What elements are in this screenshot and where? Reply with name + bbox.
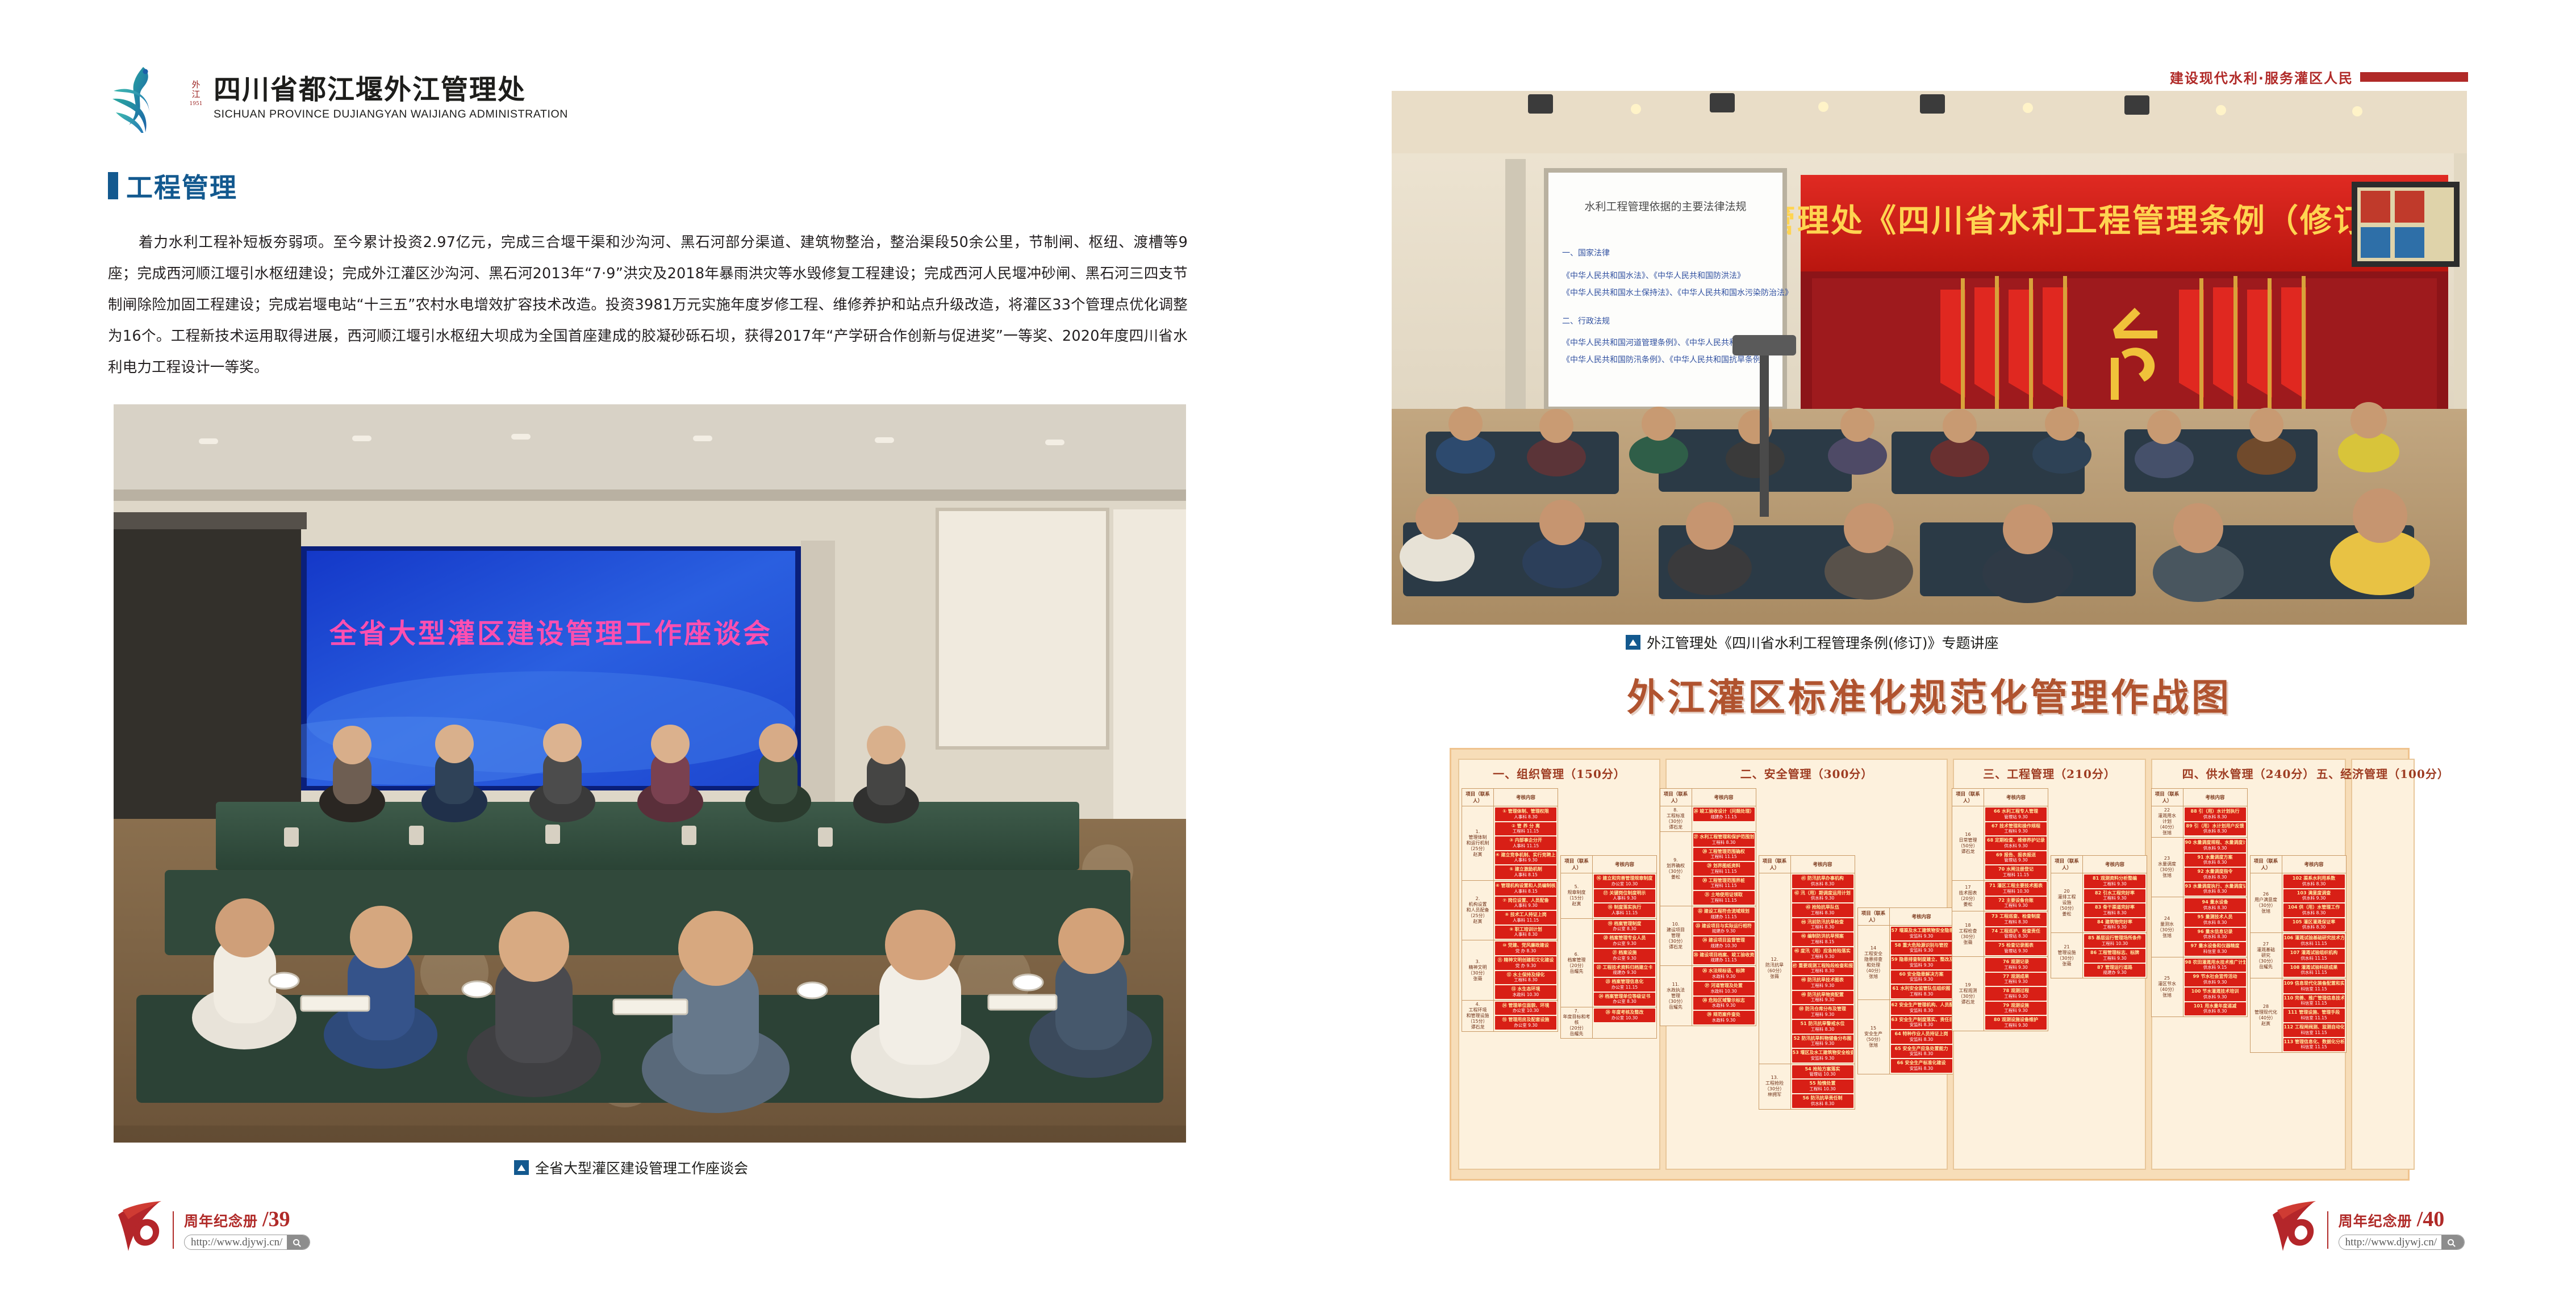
chart-column-body: 项目（联系人）考核内容8.工程标准（30分）谭石龙㉖ 竣工验收设计（问题处理）档… [1670,788,1943,1110]
chart-item[interactable]: ㊷ 汛（用）期调度运用计划供水科 9.30 [1792,889,1853,903]
chart-table-header: 项目（联系人）考核内容 [1660,789,1756,806]
chart-item[interactable]: ⑩ 党建、党风廉政建设党 办 8.30 [1495,942,1556,955]
header-project: 项目（联系人） [1858,908,1890,925]
chart-item[interactable]: ⑫ 水土保持及绿化工程科 8.30 [1495,971,1556,985]
chart-item[interactable]: 92 水量调度指令供水科 8.30 [2185,868,2246,881]
footer-url-pill[interactable]: http://www.djywj.cn/ [184,1235,310,1250]
chart-column-3: 三、工程管理（210分）项目（联系人）考核内容16日常管理（50分）谭石龙66 … [1953,759,2146,1170]
chart-item[interactable]: 81 观测资料分析整编工程科 9.30 [2084,875,2145,888]
chart-item[interactable]: 91 水量调度方案供水科 8.30 [2185,854,2246,867]
chart-group-label: 5.规章制度（15分）赵寅 [1561,873,1593,918]
chart-item[interactable]: 66 安全生产标准化建设安监科 8.30 [1891,1059,1952,1073]
footer-text-block: 周年纪念册 /40 http://www.djywj.cn/ [2339,1207,2465,1252]
chart-item[interactable]: ㊲ 河道管理及处置水政科 10.30 [1693,982,1755,995]
chart-item-title: 103 满意度调查 [2284,890,2344,896]
chart-group-label: 12.防汛抗旱（60分）张薇 [1759,873,1791,1064]
chart-item-title: 92 水量调度指令 [2185,869,2245,875]
chart-item-title: 65 安全生产应急处置能力 [1892,1046,1952,1052]
chart-item-owner: 水政科 9.30 [1694,974,1754,979]
chart-item-title: ㊺ 编制防洪抗旱预案 [1793,934,1853,939]
chart-table: 项目（联系人）考核内容8.工程标准（30分）谭石龙㉖ 竣工验收设计（问题处理）档… [1660,788,1756,1026]
chart-item[interactable]: ㉞ 建设项目监督管理规建办 10.30 [1693,936,1755,950]
chart-item[interactable]: ㊺ 编制防洪抗旱预案工程科 8.15 [1792,932,1853,946]
chart-item[interactable]: ㊹ 汛前防汛抗旱检查工程科 8.30 [1792,918,1853,932]
chart-item-title: ⑫ 水土保持及绿化 [1496,972,1556,978]
chart-item[interactable]: 60 安全隐患解决方案安监科 9.30 [1891,970,1952,984]
chart-item-owner: 工程科 11.15 [1694,883,1754,888]
chart-item-title: 77 观测成果 [1986,974,2046,980]
seventy-anniversary-logo-icon [2266,1200,2322,1252]
chart-item-list: 76 观测记录工程科 9.3077 观测成果工程科 9.3078 观测过程工程科… [1984,957,2048,1031]
chart-item[interactable]: 111 管理设施、管理手段科信室 11.15 [2283,1009,2345,1022]
chart-item-owner: 人事科 9.30 [1496,857,1556,863]
chart-group-row: 8.工程标准（30分）谭石龙㉖ 竣工验收设计（问题处理）档案规建办 11.15 [1660,806,1756,832]
chart-item-title: ㉓ 档案管理信息化 [1594,979,1655,985]
chart-item[interactable]: ㉘ 工程管理范围确权工程科 11.15 [1693,848,1755,861]
chart-item-title: ㊸ 抢险抗旱队伍 [1793,905,1853,910]
chart-item[interactable]: ㉕ 年度考核及整改办公室 10.30 [1594,1009,1655,1022]
chart-item-title: 53 堰区及水工建筑物安全检查报表 [1793,1050,1853,1056]
chart-item-owner: 管理站 9.30 [1986,814,2046,819]
chart-item[interactable]: 80 观测设施设备维护工程科 9.30 [1985,1016,2047,1030]
chart-item[interactable]: 63 安全生产制度落实、责任目标落实安监科 8.30 [1891,1016,1952,1030]
chart-item-owner: 人事科 11.15 [1496,843,1556,848]
chart-item[interactable]: 82 引水工程完好率工程科 9.30 [2084,889,2145,903]
page-number: /39 [262,1207,290,1232]
chart-item-owner: 工程科 9.30 [1986,1008,2046,1013]
chart-item-list: ㉖ 竣工验收设计（问题处理）档案规建办 11.15 [1692,806,1756,831]
chart-item[interactable]: 95 量测技术人员供水科 8.30 [2185,913,2246,927]
chart-column-header: 五、经济管理（100分） [2316,765,2449,781]
chart-item-owner: 工程科 11.15 [1694,898,1754,903]
chart-group-row: 24量测水（30分）张旭94 量水设备供水科 8.3095 量测技术人员供水科 … [2152,897,2247,957]
chart-item-title: 52 防汛抗旱料物储备分布图 [1793,1036,1853,1041]
chart-item[interactable]: 52 防汛抗旱料物储备分布图工程科 9.30 [1792,1035,1853,1048]
chart-item-owner: 工程科 10.30 [1986,889,2046,894]
chart-item-owner: 工程科 9.30 [2085,924,2145,930]
section-accent-bar [108,172,118,199]
chart-item[interactable]: 98 农田灌溉用水技术推广计划供水科 9.15 [2185,959,2246,972]
chart-table: 项目（联系人）考核内容14工程安全隐患排查和处理（40分）张旭57 堰渠及水工建… [1857,907,1954,1074]
chart-item-title: 66 安全生产标准化建设 [1892,1060,1952,1066]
chart-item[interactable]: 62 安全生产管理机构、人员配备到位安监科 8.30 [1891,1001,1952,1015]
chart-item[interactable]: 51 防汛抗旱警戒水位工程科 8.30 [1792,1020,1853,1034]
chart-item-title: 68 定期检查、维修养护记录 [1986,838,2046,843]
chart-item-owner: 安监科 9.30 [1793,1056,1853,1061]
chart-item[interactable]: 79 观测设施工程科 9.30 [1985,1002,2047,1015]
chart-group-row: 28管理现代化（40分）赵寅109 信息现代化装备配置和实施计划科信室 11.1… [2251,978,2346,1052]
chart-item[interactable]: ② 管 养 分 离工程科 11.15 [1495,822,1556,836]
chart-item[interactable]: 86 工程管理标志、标牌工程科 9.30 [2084,949,2145,963]
chart-item[interactable]: 56 防汛抗旱责任制供水科 8.30 [1792,1094,1853,1108]
chart-item[interactable]: ③ 内部事企分开人事科 11.15 [1495,836,1556,850]
chart-item-list: 73 工程巡查、检查制度工程科 8.3074 工程巡护、检查责任管理站 8.30… [1984,911,2048,956]
chart-item-title: 55 险情处置 [1793,1081,1853,1086]
chart-item[interactable]: ㉛ 土地使用证领取工程科 11.15 [1693,891,1755,905]
chart-group-label: 17技术图表（20分）姜松 [1952,881,1984,911]
chart-item-owner: 工程科 9.30 [1986,829,2046,834]
chart-item[interactable]: ㊴ 规范案件查处水政科 9.30 [1693,1011,1755,1024]
chart-item-title: 102 渠系水利用系数 [2284,876,2344,881]
chart-item[interactable]: 101 用水量年度递减供水科 8.30 [2185,1002,2246,1016]
chart-item-title: 107 灌溉试验组织机构 [2284,950,2344,956]
chart-item-title: 73 工程巡查、检查制度 [1986,914,2046,919]
footer-left: 周年纪念册 /39 http://www.djywj.cn/ [111,1200,310,1252]
chart-item-title: 69 报告、报表报送 [1986,852,2046,858]
chart-item-owner: 人事科 8.30 [1496,814,1556,819]
chart-group-label: 16日常管理（50分）谭石龙 [1952,806,1984,880]
chart-item-owner: 安监科 9.30 [1892,977,1952,982]
chart-item-owner: 工程科 9.30 [2085,881,2145,886]
chart-item-list: ⑭ 管理单位面貌、环境办公室 10.30⑮ 管理用房及配套设施办公室 9.30 [1494,1001,1558,1031]
chart-item[interactable]: 70 水闸注册登记工程科 11.15 [1985,865,2047,879]
chart-item-owner: 办公室 9.30 [1594,941,1655,946]
chart-item[interactable]: 104 供（用）水管理工作供水科 8.30 [2283,903,2345,917]
chart-item[interactable]: ㊸ 抢险抗旱队伍工程科 8.30 [1792,903,1853,917]
crane-wave-logo-icon [108,64,181,133]
magazine-spread: 外江 1951 四川省都江堰外江管理处 SICHUAN PROVINCE DUJ… [0,0,2576,1301]
chart-item[interactable]: ④ 建立竞争机制、实行竞聘上岗人事科 9.30 [1495,851,1556,865]
chart-item-owner: 供水科 8.30 [2284,881,2344,886]
chart-item[interactable]: ㉑ 档案设施办公室 9.30 [1594,949,1655,963]
chart-group-label: 21管理设施（30分）张薇 [2051,933,2083,978]
chart-group-label: 11.水政执法管理（30分）岳耀先 [1660,966,1692,1025]
chart-item[interactable]: ⑮ 管理用房及配套设施办公室 9.30 [1495,1016,1556,1030]
chart-table-header: 项目（联系人）考核内容 [2152,789,2247,806]
chart-item[interactable]: 90 水量调度规程、水量调度计划供水科 9.30 [2185,839,2246,852]
photo-caption-left: 全省大型灌区建设管理工作座谈会 [514,1157,748,1178]
left-page: 外江 1951 四川省都江堰外江管理处 SICHUAN PROVINCE DUJ… [0,0,1288,1301]
chart-item-list: 54 抢险方案落实管理站 10.3055 险情处置工程科 10.3056 防汛抗… [1791,1064,1855,1109]
chart-item-title: ㊹ 汛前防汛抗旱检查 [1793,919,1853,925]
section-heading: 工程管理 [108,166,237,205]
triangle-marker-icon [1626,635,1640,650]
chart-item[interactable]: ⑤ 建立激励机制人事科 8.15 [1495,865,1556,879]
chart-item[interactable]: 108 灌溉试验科研成果供水科 11.15 [2283,964,2345,977]
chart-item[interactable]: ㊾ 防汛抗旱物资配置工程科 9.30 [1792,991,1853,1005]
chart-table: 项目（联系人）考核内容5.规章制度（15分）赵寅⑯ 建立和完善管理规章制度办公室… [1560,855,1657,1039]
svg-text:《中华人民共和国水土保持法》、《中华人民共和国水污染防治法》: 《中华人民共和国水土保持法》、《中华人民共和国水污染防治法》 [1562,288,1793,298]
chart-item-list: ㉗ 水利工程管理和保护范围划定工程科 8.30㉘ 工程管理范围确权工程科 11.… [1692,832,1756,906]
chart-item[interactable]: ㉟ 建设项目档案、竣工验收资料规建办 11.15 [1693,951,1755,965]
chart-table-header: 项目（联系人）考核内容 [1759,856,1855,873]
chart-item[interactable]: 107 灌溉试验组织机构供水科 11.15 [2283,949,2345,963]
chart-item[interactable]: ⑬ 水生态环境水政科 10.30 [1495,985,1556,999]
chart-item[interactable]: 68 定期检查、维修养护记录供水科 9.30 [1985,836,2047,850]
chart-item-title: 61 水利安全监管队伍组织图 [1892,986,1952,992]
chart-item[interactable]: ㉚ 工程管理范围界桩工程科 11.15 [1693,877,1755,890]
chart-item[interactable]: 76 观测记录工程科 9.30 [1985,958,2047,972]
chart-item-owner: 安监科 8.30 [1892,1051,1952,1056]
chart-column-body: 项目（联系人）考核内容22灌溉用水计划（40分）张旭88 引（用）水计划执行供水… [2156,788,2341,1053]
chart-item-list: ⑯ 建立和完善管理规章制度办公室 10.30⑰ 关键岗位制度明示人事科 9.30… [1593,873,1656,918]
chart-item-list: 109 信息现代化装备配置和实施计划科信室 11.15110 完善、推广管理信息… [2282,978,2346,1052]
chart-item[interactable]: 57 堰渠及水工建筑物安全隐患台账安监科 9.30 [1891,927,1952,940]
chart-item-title: 51 防汛抗旱警戒水位 [1793,1021,1853,1027]
chart-item-title: 93 水量调度执行、水量调度记录 [2185,884,2245,889]
chart-item[interactable]: ㊶ 防汛抗旱办事机构供水科 8.30 [1792,875,1853,888]
chart-item-owner: 工程科 8.15 [1793,939,1853,944]
chart-item[interactable]: 94 量水设备供水科 8.30 [2185,898,2246,912]
chart-group-row: 14工程安全隐患排查和处理（40分）张旭57 堰渠及水工建筑物安全隐患台账安监科… [1858,926,1953,1000]
photo-conference-seminar: 全省大型灌区建设管理工作座谈会 [114,404,1186,1143]
chart-item-title: 63 安全生产制度落实、责任目标落实 [1892,1017,1952,1023]
chart-item[interactable]: ⑨ 职工培训计划人事科 8.30 [1495,926,1556,939]
chart-item-owner: 办公室 10.30 [1594,881,1655,886]
chart-item[interactable]: ㊻ 度汛（用）应急抢险落实工程科 9.30 [1792,947,1853,961]
chart-group-label: 28管理现代化（40分）赵寅 [2251,978,2282,1052]
chart-item[interactable]: 96 量水信息记录供水科 8.30 [2185,928,2246,942]
chart-item-title: 94 量水设备 [2185,900,2245,905]
chart-item-list: ㉕ 年度考核及整改办公室 10.30 [1593,1007,1656,1038]
chart-item[interactable]: ㉖ 竣工验收设计（问题处理）档案规建办 11.15 [1693,808,1755,821]
chart-item[interactable]: 65 安全生产应急处置能力安监科 8.30 [1891,1045,1952,1059]
chart-table: 项目（联系人）考核内容22灌溉用水计划（40分）张旭88 引（用）水计划执行供水… [2151,788,2248,1017]
chart-item-owner: 人事科 8.15 [1496,889,1556,894]
chart-item[interactable]: 53 堰区及水工建筑物安全检查报表安监科 9.30 [1792,1049,1853,1062]
chart-item-owner: 工程科 8.30 [1793,910,1853,915]
caption-text: 全省大型灌区建设管理工作座谈会 [535,1157,748,1178]
chart-item[interactable]: 105 灌区灌溉保证率供水科 8.30 [2283,918,2345,932]
chart-item[interactable]: 89 引（用）水计划用户反馈供水科 8.30 [2185,822,2246,836]
chart-item-title: ② 管 养 分 离 [1496,823,1556,829]
header-slogan: 建设现代水利·服务灌区人民 [2170,67,2468,87]
chart-item-owner: 安监科 8.30 [1892,1066,1952,1071]
chart-item-owner: 工程科 10.30 [1793,1086,1853,1091]
chart-item-owner: 科信室 11.15 [2284,986,2344,992]
chart-item[interactable]: 58 重大危险源识别与管控安监科 9.30 [1891,942,1952,955]
chart-item[interactable]: ㉙ 划界图纸资料工程科 11.15 [1693,862,1755,876]
chart-item[interactable]: 71 灌区工程主要技术图表工程科 10.30 [1985,882,2047,896]
chart-item-owner: 供水科 8.30 [1793,1101,1853,1106]
chart-item-owner: 科信室 11.15 [2284,1030,2344,1035]
chart-item[interactable]: ㉒ 工程技术资料归档建立卡规建办 9.30 [1594,964,1655,977]
header-content: 考核内容 [2183,789,2247,806]
chart-group-row: 3.精神文明（30分）张薇⑩ 党建、党风廉政建设党 办 8.30⑪ 精神文明创建… [1462,940,1558,1000]
chart-item[interactable]: 103 满意度调查供水科 9.30 [2283,889,2345,903]
header-content: 考核内容 [1890,908,1953,925]
chart-item-owner: 供水科 8.30 [2185,829,2245,834]
caption-text: 外江管理处《四川省水利工程管理条例(修订)》专题讲座 [1647,632,1999,652]
chart-item-title: ㉑ 档案设施 [1594,950,1655,956]
chart-item-list: 88 引（用）水计划执行供水科 8.3089 引（用）水计划用户反馈供水科 8.… [2183,806,2247,837]
battle-chart-board: 一、组织管理（150分）项目（联系人）考核内容1.管理体制和运行机制（25分）赵… [1450,748,2410,1181]
chart-item-owner: 工程科 8.30 [1793,968,1853,973]
seal-icon: 外江 1951 [189,80,203,124]
chart-item[interactable]: ㉝ 建设项目与实际运行相符规建办 9.30 [1693,922,1755,936]
chart-item[interactable]: ㉜ 建设工程符合流域规划规建办 11.15 [1693,907,1755,921]
chart-item-title: 82 引水工程完好率 [2085,890,2145,896]
chart-item[interactable]: 74 工程巡护、检查责任管理站 8.30 [1985,927,2047,941]
chart-item[interactable]: ⑰ 关键岗位制度明示人事科 9.30 [1594,889,1655,903]
chart-item-title: 88 引（用）水计划执行 [2185,809,2245,814]
chart-item-owner: 供水科 8.30 [1793,881,1853,886]
chart-item[interactable]: 109 信息现代化装备配置和实施计划科信室 11.15 [2283,980,2345,993]
chart-item[interactable]: 69 报告、报表报送管理站 9.30 [1985,851,2047,865]
chart-item-owner: 工程科 9.30 [1793,983,1853,988]
chart-item-list: ⑥ 管理机构设置和人员编制核定人事科 8.15⑦ 岗位设置、人员配备人事科 9.… [1494,881,1558,940]
chart-item[interactable]: ⑱ 制度落实执行人事科 11.15 [1594,903,1655,917]
chart-item-owner: 党 办 9.30 [1496,963,1556,968]
chart-item[interactable]: 99 节水社会宣传活动供水科 9.30 [2185,973,2246,986]
chart-item[interactable]: ㊳ 危险区域警示标志水政科 9.30 [1693,997,1755,1010]
chart-item-list: 90 水量调度规程、水量调度计划供水科 9.3091 水量调度方案供水科 8.3… [2183,838,2247,897]
chart-column-header: 二、安全管理（300分） [1740,765,1873,781]
chart-item-owner: 供水科 8.30 [2284,924,2344,930]
chart-item[interactable]: ⑦ 岗位设置、人员配备人事科 9.30 [1495,897,1556,910]
chart-item[interactable]: ① 管理体制、管理权限人事科 8.30 [1495,808,1556,821]
chart-item-title: 89 引（用）水计划用户反馈 [2185,823,2245,829]
chart-item-list: ⑩ 党建、党风廉政建设党 办 8.30⑪ 精神文明创建和文化建设党 办 9.30… [1494,940,1558,999]
chart-item[interactable]: 54 抢险方案落实管理站 10.30 [1792,1065,1853,1079]
chart-group-row: 5.规章制度（15分）赵寅⑯ 建立和完善管理规章制度办公室 10.30⑰ 关键岗… [1561,873,1656,919]
chart-item[interactable]: 77 观测成果工程科 9.30 [1985,973,2047,986]
chart-item[interactable]: ⑭ 管理单位面貌、环境办公室 10.30 [1495,1002,1556,1015]
chart-item-title: ㉝ 建设项目与实际运行相符 [1694,923,1754,929]
chart-item[interactable]: 97 量水设备和仪器精度科信室 8.30 [2185,942,2246,956]
chart-group-row: 22灌溉用水计划（40分）张旭88 引（用）水计划执行供水科 8.3089 引（… [2152,806,2247,838]
chart-group-label: 14工程安全隐患排查和处理（40分）张旭 [1858,926,1890,999]
chart-item-list: 106 灌溉试验基础研究技术方案供水科 11.15107 灌溉试验组织机构供水科… [2282,933,2346,978]
chart-item-owner: 工程科 8.30 [1694,840,1754,845]
chart-item-owner: 管理站 9.30 [1986,857,2046,863]
chart-group-row: 4.工程环境和管理设施（15分）谭石龙⑭ 管理单位面貌、环境办公室 10.30⑮… [1462,1001,1558,1031]
chart-group-row: 20灌排工程设施（50分）姜松81 观测资料分析整编工程科 9.3082 引水工… [2051,873,2147,933]
footer-url-pill[interactable]: http://www.djywj.cn/ [2339,1235,2465,1250]
chart-item[interactable]: 66 水利工程专人管理管理站 9.30 [1985,808,2047,821]
chart-item-owner: 供水科 8.30 [2185,1009,2245,1014]
chart-item-owner: 供水科 8.30 [2284,910,2344,915]
chart-item[interactable]: 113 管理信息化、数据化分析、评估科信室 11.15 [2283,1038,2345,1052]
slogan-text: 建设现代水利·服务灌区人民 [2170,67,2353,87]
chart-item[interactable]: ㉗ 水利工程管理和保护范围划定工程科 8.30 [1693,833,1755,847]
chart-item[interactable]: 59 隐患排查制度建立、整改及上报安监科 9.30 [1891,956,1952,969]
header-content: 考核内容 [1791,856,1855,873]
footer-label: 周年纪念册 [2339,1210,2412,1231]
chart-item[interactable]: ㉓ 档案管理信息化办公室 11.15 [1594,978,1655,992]
search-icon[interactable] [2441,1235,2464,1249]
chart-item-title: ⑯ 建立和完善管理规章制度 [1594,876,1655,881]
chart-item[interactable]: 55 险情处置工程科 10.30 [1792,1080,1853,1093]
chart-item[interactable]: 100 节水灌溉技术培训供水科 9.30 [2185,988,2246,1001]
chart-item-owner: 科信室 11.15 [2284,1015,2344,1020]
chart-group-row: 10.建设项目管理（30分）谭石龙㉜ 建设工程符合流域规划规建办 11.15㉝ … [1660,906,1756,966]
chart-group-label: 6.档案管理（20分）岳耀先 [1561,919,1593,1007]
header-project: 项目（联系人） [1561,856,1593,873]
chart-item[interactable]: 73 工程巡查、检查制度工程科 8.30 [1985,913,2047,926]
chart-item-list: 85 基层运行管理场所条件工程科 10.3086 工程管理标志、标牌工程科 9.… [2083,933,2147,978]
chart-item[interactable]: 106 灌溉试验基础研究技术方案供水科 11.15 [2283,934,2345,948]
chart-item-title: 99 节水社会宣传活动 [2185,974,2245,980]
chart-item[interactable]: ㉔ 档案管理单位等级证书办公室 8.30 [1594,993,1655,1006]
chart-column-4: 四、供水管理（240分）项目（联系人）考核内容22灌溉用水计划（40分）张旭88… [2151,759,2346,1170]
chart-item[interactable]: ㊽ 防汛抗旱技术图表工程科 9.30 [1792,976,1853,990]
chart-item-owner: 供水科 9.30 [2185,980,2245,985]
chart-item[interactable]: 61 水利安全监管队伍组织图工程科 8.30 [1891,985,1952,998]
chart-item[interactable]: 67 技术管理和操作规程工程科 9.30 [1985,822,2047,836]
chart-item-list: ㊱ 水法规标语、标牌水政科 9.30㊲ 河道管理及处置水政科 10.30㊳ 危险… [1692,966,1756,1025]
chart-item[interactable]: 75 检查记录图表管理站 9.30 [1985,942,2047,955]
chart-item[interactable]: ⑧ 技术工人持证上岗人事科 11.15 [1495,911,1556,924]
chart-item[interactable]: 84 建筑物完好率工程科 9.30 [2084,918,2145,932]
chart-item[interactable]: 102 渠系水利用系数供水科 8.30 [2283,875,2345,888]
header-project: 项目（联系人） [2051,856,2083,873]
header-project: 项目（联系人） [2152,789,2183,806]
chart-item-title: 78 观测过程 [1986,988,2046,994]
chart-item[interactable]: 78 观测过程工程科 9.30 [1985,987,2047,1001]
chart-item-owner: 人事科 8.30 [1496,932,1556,937]
chart-item-owner: 规建办 9.30 [1694,928,1754,934]
chart-item-title: ㊷ 汛（用）期调度运用计划 [1793,890,1853,896]
chart-item-owner: 工程科 9.30 [1986,994,2046,999]
chart-item[interactable]: ㊼ 重要观测工程险段检查和报表工程科 8.30 [1792,962,1853,976]
chart-item-title: 67 技术管理和操作规程 [1986,823,2046,829]
chart-item[interactable]: ⑯ 建立和完善管理规章制度办公室 10.30 [1594,875,1655,888]
chart-group-label: 27灌溉基础研究（30分）岳耀先 [2251,933,2282,978]
svg-text:全省大型灌区建设管理工作座谈会: 全省大型灌区建设管理工作座谈会 [329,618,773,650]
chart-item-title: 58 重大危险源识别与管控 [1892,943,1952,948]
chart-item[interactable]: ⑲ 档案管理制度办公室 8.30 [1594,920,1655,934]
chart-item[interactable]: 87 管理运行道路规建办 9.30 [2084,964,2145,977]
chart-item-title: ㊴ 规范案件查处 [1694,1012,1754,1018]
chart-column-5: 五、经济管理（100分） [2351,759,2415,1170]
chart-item-owner: 供水科 9.30 [1986,843,2046,848]
page-title: 工程管理 [126,166,237,205]
chart-item[interactable]: 93 水量调度执行、水量调度记录供水科 8.30 [2185,882,2246,896]
chart-item-owner: 供水科 8.30 [2185,814,2245,819]
chart-item[interactable]: 85 基层运行管理场所条件工程科 10.30 [2084,934,2145,948]
chart-column-body: 项目（联系人）考核内容16日常管理（50分）谭石龙66 水利工程专人管理管理站 … [1957,788,2141,1031]
chart-group-row: 15安全生产（50分）张旭62 安全生产管理机构、人员配备到位安监科 8.306… [1858,1000,1953,1074]
chart-table-header: 项目（联系人）考核内容 [2051,856,2147,873]
chart-item[interactable]: ⑥ 管理机构设置和人员编制核定人事科 8.15 [1495,882,1556,896]
chart-item-title: ⑭ 管理单位面貌、环境 [1496,1003,1556,1009]
chart-item-owner: 工程科 11.15 [1694,869,1754,874]
chart-item-owner: 工程科 9.30 [1793,954,1853,959]
chart-item[interactable]: ㊱ 水法规标语、标牌水政科 9.30 [1693,967,1755,981]
chart-item[interactable]: ㊿ 防汛仓库分布及管理工程科 9.30 [1792,1005,1853,1019]
chart-item-owner: 科信室 11.15 [2284,1001,2344,1006]
chart-item-owner: 办公室 8.30 [1594,926,1655,931]
chart-item-title: ㊳ 危险区域警示标志 [1694,998,1754,1003]
chart-table-header: 项目（联系人）考核内容 [1858,908,1953,926]
chart-item-title: 86 工程管理标志、标牌 [2085,950,2145,956]
chart-item-title: 74 工程巡护、检查责任 [1986,928,2046,934]
search-icon[interactable] [287,1235,310,1249]
chart-item[interactable]: 88 引（用）水计划执行供水科 8.30 [2185,808,2246,821]
chart-item[interactable]: 83 骨干渠道完好率工程科 8.30 [2084,903,2145,917]
triangle-marker-icon [514,1160,529,1175]
masthead-text: 四川省都江堰外江管理处 SICHUAN PROVINCE DUJIANGYAN … [214,76,568,121]
header-project: 项目（联系人） [1759,856,1791,873]
chart-item[interactable]: 64 特种作业人员持证上岗安监科 8.30 [1891,1030,1952,1044]
chart-item-title: 76 观测记录 [1986,959,2046,965]
chart-item-owner: 工程科 8.30 [1496,977,1556,982]
chart-item-title: 70 水闸注册登记 [1986,867,2046,872]
chart-item-title: ㊶ 防汛抗旱办事机构 [1793,876,1853,881]
chart-item[interactable]: ⑪ 精神文明创建和文化建设党 办 9.30 [1495,956,1556,970]
chart-item[interactable]: 110 完善、推广管理信息技术科信室 11.15 [2283,994,2345,1008]
chart-item-list: 57 堰渠及水工建筑物安全隐患台账安监科 9.3058 重大危险源识别与管控安监… [1890,926,1953,999]
chart-item-title: ⑮ 管理用房及配套设施 [1496,1017,1556,1023]
chart-item-title: ㉚ 工程管理范围界桩 [1694,878,1754,884]
chart-group-row: 21管理设施（30分）张薇85 基层运行管理场所条件工程科 10.3086 工程… [2051,933,2147,978]
chart-item-owner: 工程科 9.30 [1793,997,1853,1002]
chart-item-title: 59 隐患排查制度建立、整改及上报 [1892,957,1952,963]
chart-item[interactable]: ⑳ 档案管理专业人员办公室 9.30 [1594,934,1655,948]
chart-item[interactable]: 112 工程闸阀测、监测自动化科信室 11.15 [2283,1023,2345,1037]
chart-item[interactable]: 72 主要设备台账工程科 9.30 [1985,897,2047,910]
